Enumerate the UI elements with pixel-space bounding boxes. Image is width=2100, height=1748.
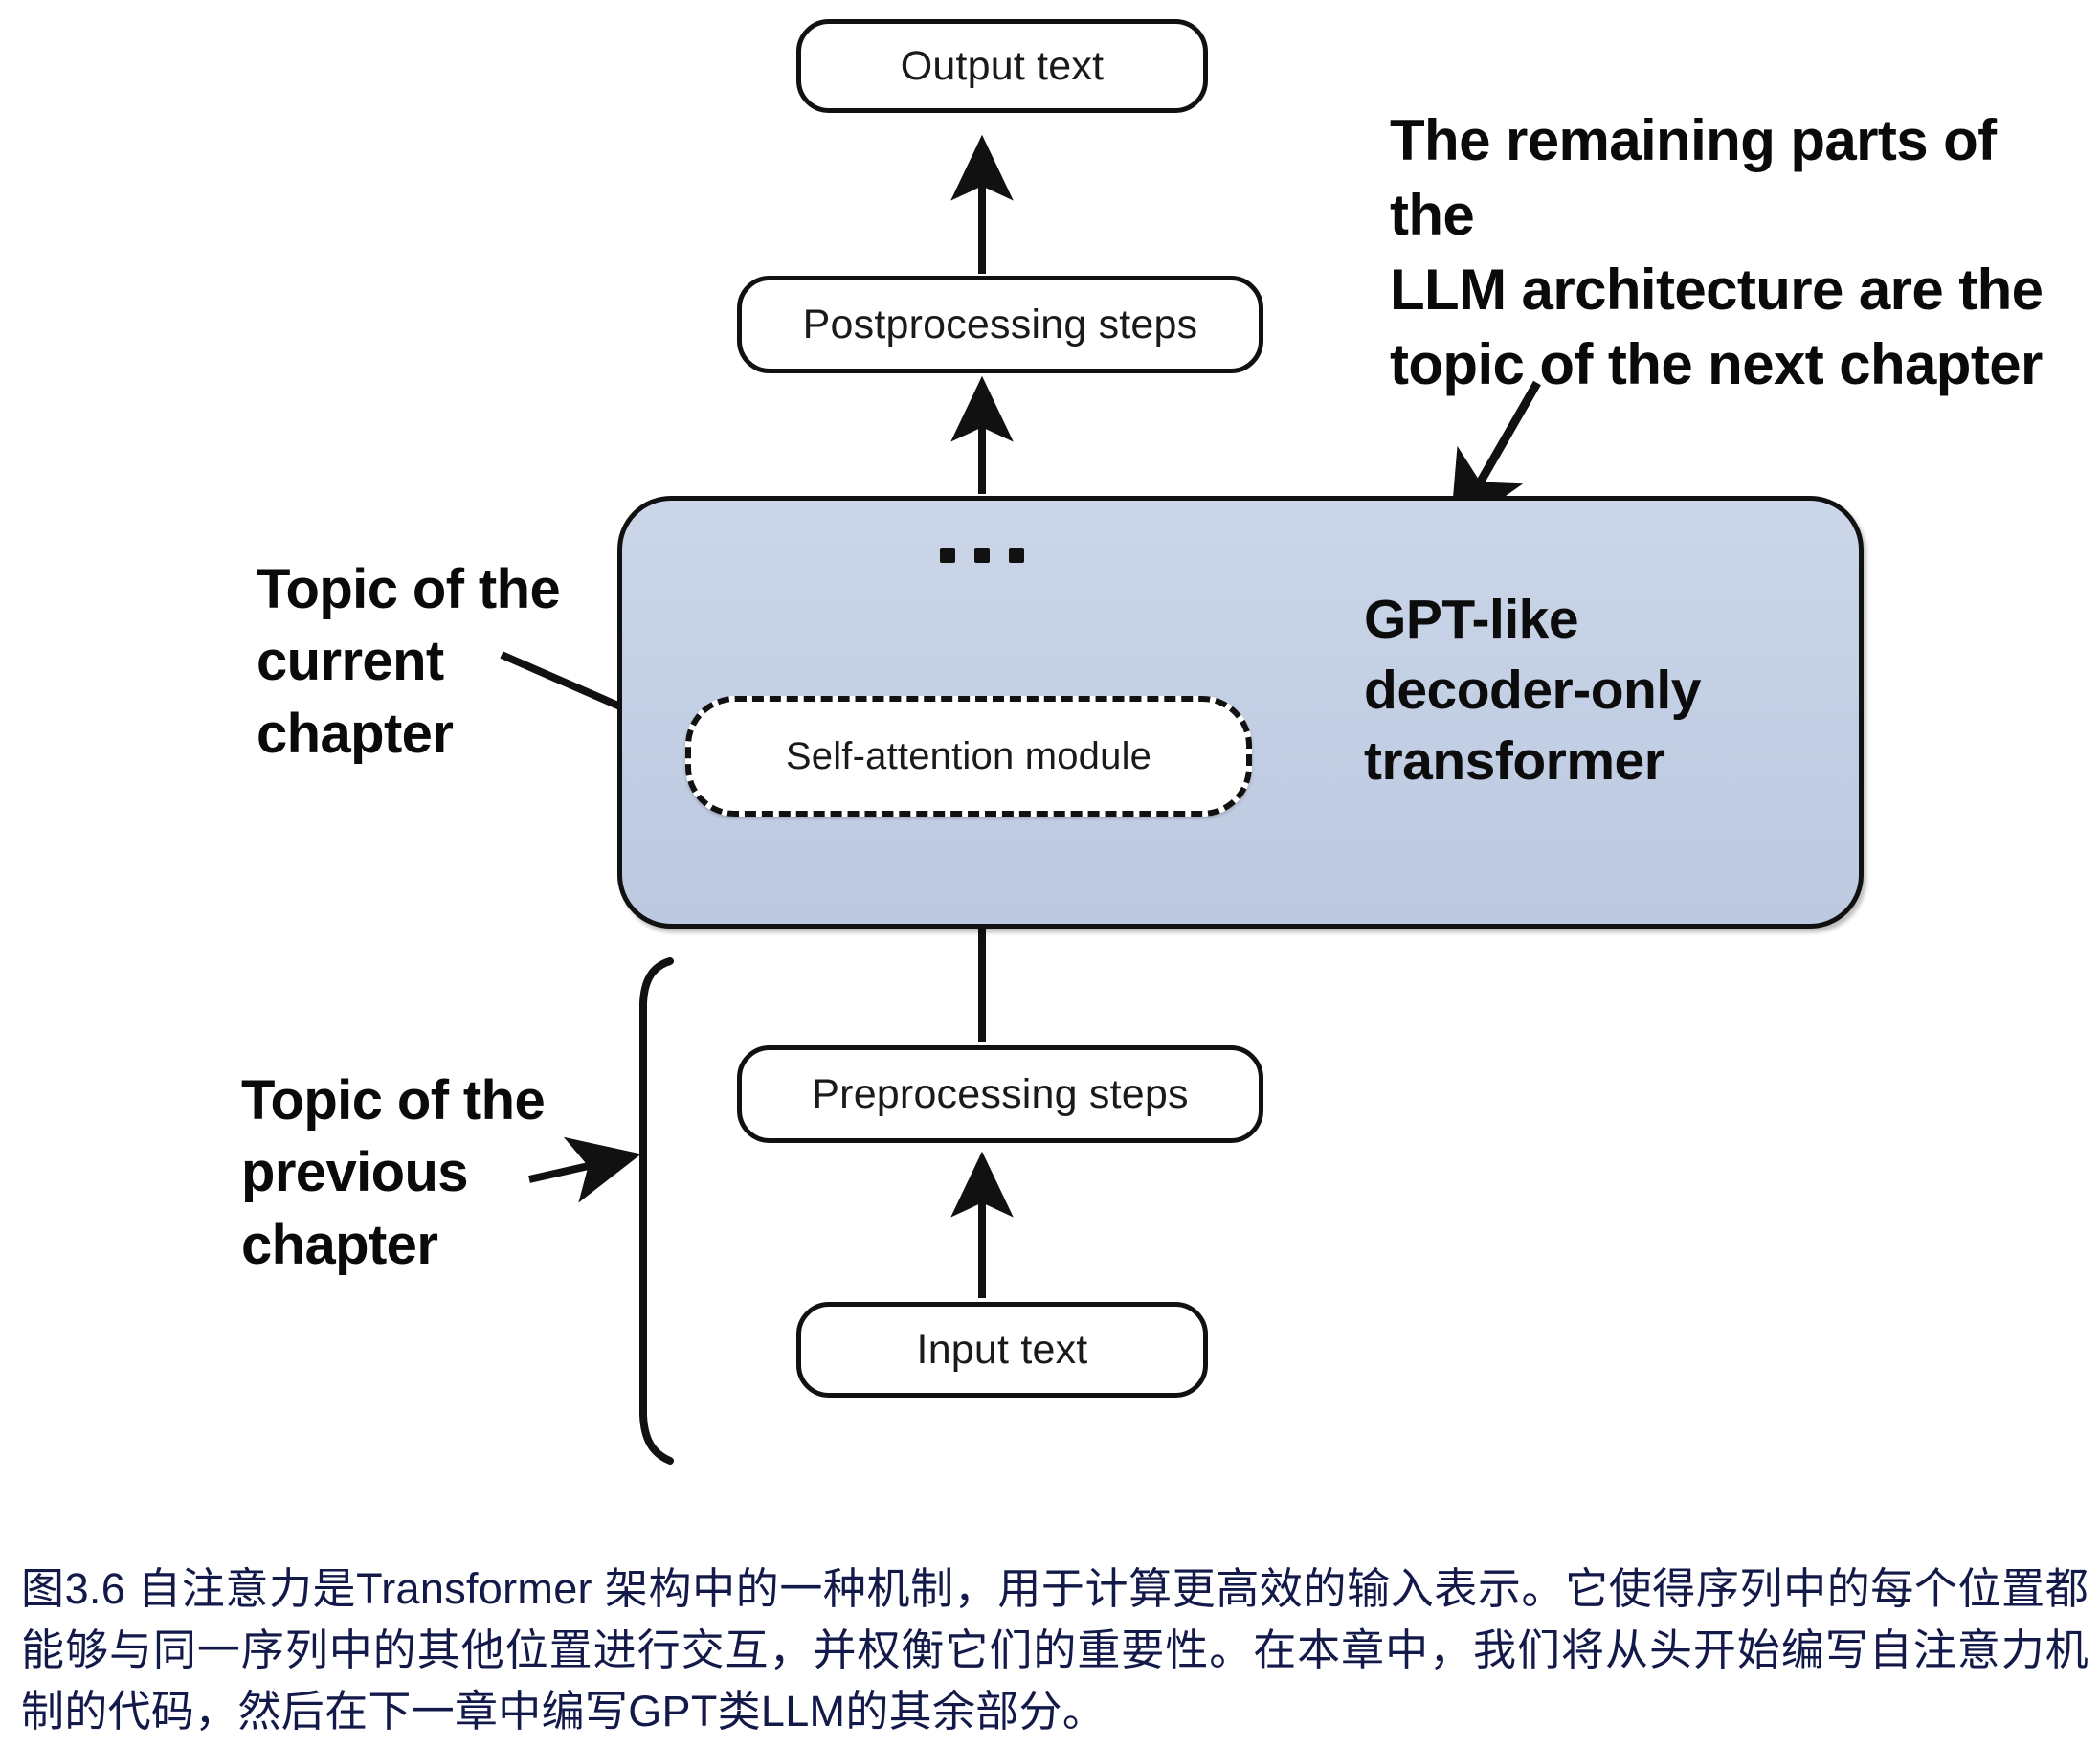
node-output-text: Output text — [796, 19, 1208, 113]
node-preprocessing-steps: Preprocessing steps — [737, 1045, 1263, 1143]
transformer-label: GPT-like decoder-only transformer — [1364, 584, 1814, 796]
figure-diagram: GPT-like decoder-only transformer Output… — [0, 0, 2100, 1532]
annotation-previous-chapter-line-3: chapter — [241, 1209, 643, 1281]
node-postprocessing-steps: Postprocessing steps — [737, 276, 1263, 373]
ellipsis-dot — [1009, 548, 1024, 563]
annotation-previous-chapter-line-2: previous — [241, 1136, 643, 1208]
annotation-next-chapter: The remaining parts of the LLM architect… — [1390, 103, 2079, 402]
transformer-label-line-3: transformer — [1364, 726, 1814, 796]
annotation-current-chapter: Topic of the current chapter — [257, 553, 659, 770]
grouping-brace — [643, 961, 670, 1461]
ellipsis-dot — [974, 548, 990, 563]
node-self-attention-module: Self-attention module — [685, 696, 1252, 817]
annotation-next-chapter-line-3: topic of the next chapter — [1390, 327, 2079, 402]
annotation-previous-chapter-line-1: Topic of the — [241, 1064, 643, 1136]
figure-caption: 图3.6 自注意力是Transformer 架构中的一种机制，用于计算更高效的输… — [21, 1558, 2089, 1742]
ellipsis-dot — [940, 548, 955, 563]
transformer-label-line-2: decoder-only — [1364, 655, 1814, 726]
annotation-next-chapter-line-2: LLM architecture are the — [1390, 253, 2079, 327]
annotation-current-chapter-line-2: current — [257, 625, 659, 697]
ellipsis-icon — [940, 548, 1024, 563]
transformer-label-line-1: GPT-like — [1364, 584, 1814, 655]
annotation-current-chapter-line-3: chapter — [257, 698, 659, 770]
node-input-text: Input text — [796, 1302, 1208, 1398]
annotation-next-chapter-line-1: The remaining parts of the — [1390, 103, 2079, 253]
annotation-current-chapter-line-1: Topic of the — [257, 553, 659, 625]
annotation-previous-chapter: Topic of the previous chapter — [241, 1064, 643, 1281]
